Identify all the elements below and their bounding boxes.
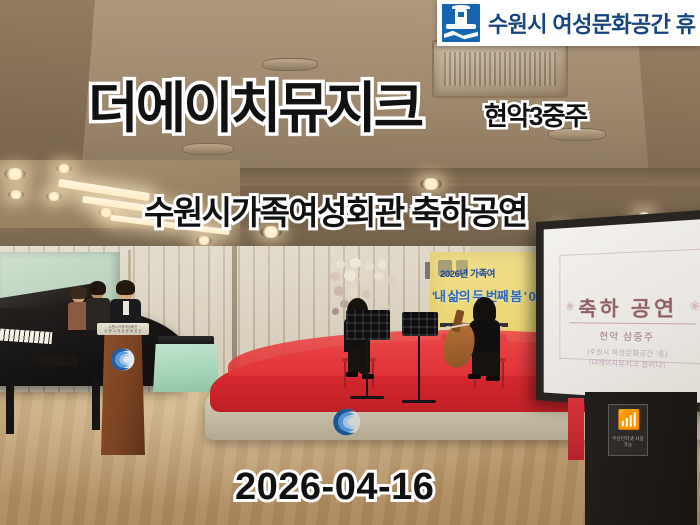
wifi-sign-caption: 무선인터넷 사용가능	[610, 436, 646, 448]
ceiling-downlight	[196, 236, 212, 245]
swirl-circle-logo-icon	[333, 408, 361, 436]
overlay-title-main: 더에이치뮤지크	[88, 63, 421, 143]
screen-title: 축하 공연	[544, 291, 700, 322]
piano-leg	[92, 378, 100, 430]
table-with-green-cloth	[153, 344, 219, 392]
ceiling-downlight	[8, 190, 24, 199]
stage-edge-red	[568, 398, 584, 460]
screenshot-root: 2026년 가족여 '내 삶의 두 번째 봄 ' 0	[0, 0, 700, 525]
wifi-icon: 📶	[617, 410, 639, 432]
header-bar: 수원시 여성문화공간 휴	[437, 0, 700, 46]
swirl-circle-logo-icon	[112, 348, 135, 371]
ceiling-downlight	[4, 168, 26, 180]
air-conditioner-unit	[432, 40, 568, 98]
ceiling-downlight	[46, 192, 62, 201]
overlay-date: 2026-04-16	[235, 466, 434, 509]
overlay-title-line2: 수원시가족여성회관 축하공연	[144, 186, 527, 234]
projection-screen-surface: ❀ ❀ 축하 공연 현악 삼중주 (수원시 여성문화공간 '휴) (더에이치뮤지…	[544, 218, 700, 404]
podium-sign: 수원시가족여성회관 수 원 시 여 성 문 화 공 간	[101, 325, 145, 334]
overlay-title-sub: 현악3중주	[484, 96, 587, 133]
ceiling-vent	[182, 143, 234, 155]
piano-leg	[6, 382, 14, 434]
piano-bench	[34, 356, 78, 366]
ceiling-downlight	[56, 164, 72, 173]
header-title: 수원시 여성문화공간 휴	[488, 7, 695, 39]
podium-sign-line2: 수 원 시 여 성 문 화 공 간	[101, 329, 145, 333]
lighthouse-logo-icon	[442, 4, 480, 42]
projection-screen: ❀ ❀ 축하 공연 현악 삼중주 (수원시 여성문화공간 '휴) (더에이치뮤지…	[536, 208, 700, 414]
